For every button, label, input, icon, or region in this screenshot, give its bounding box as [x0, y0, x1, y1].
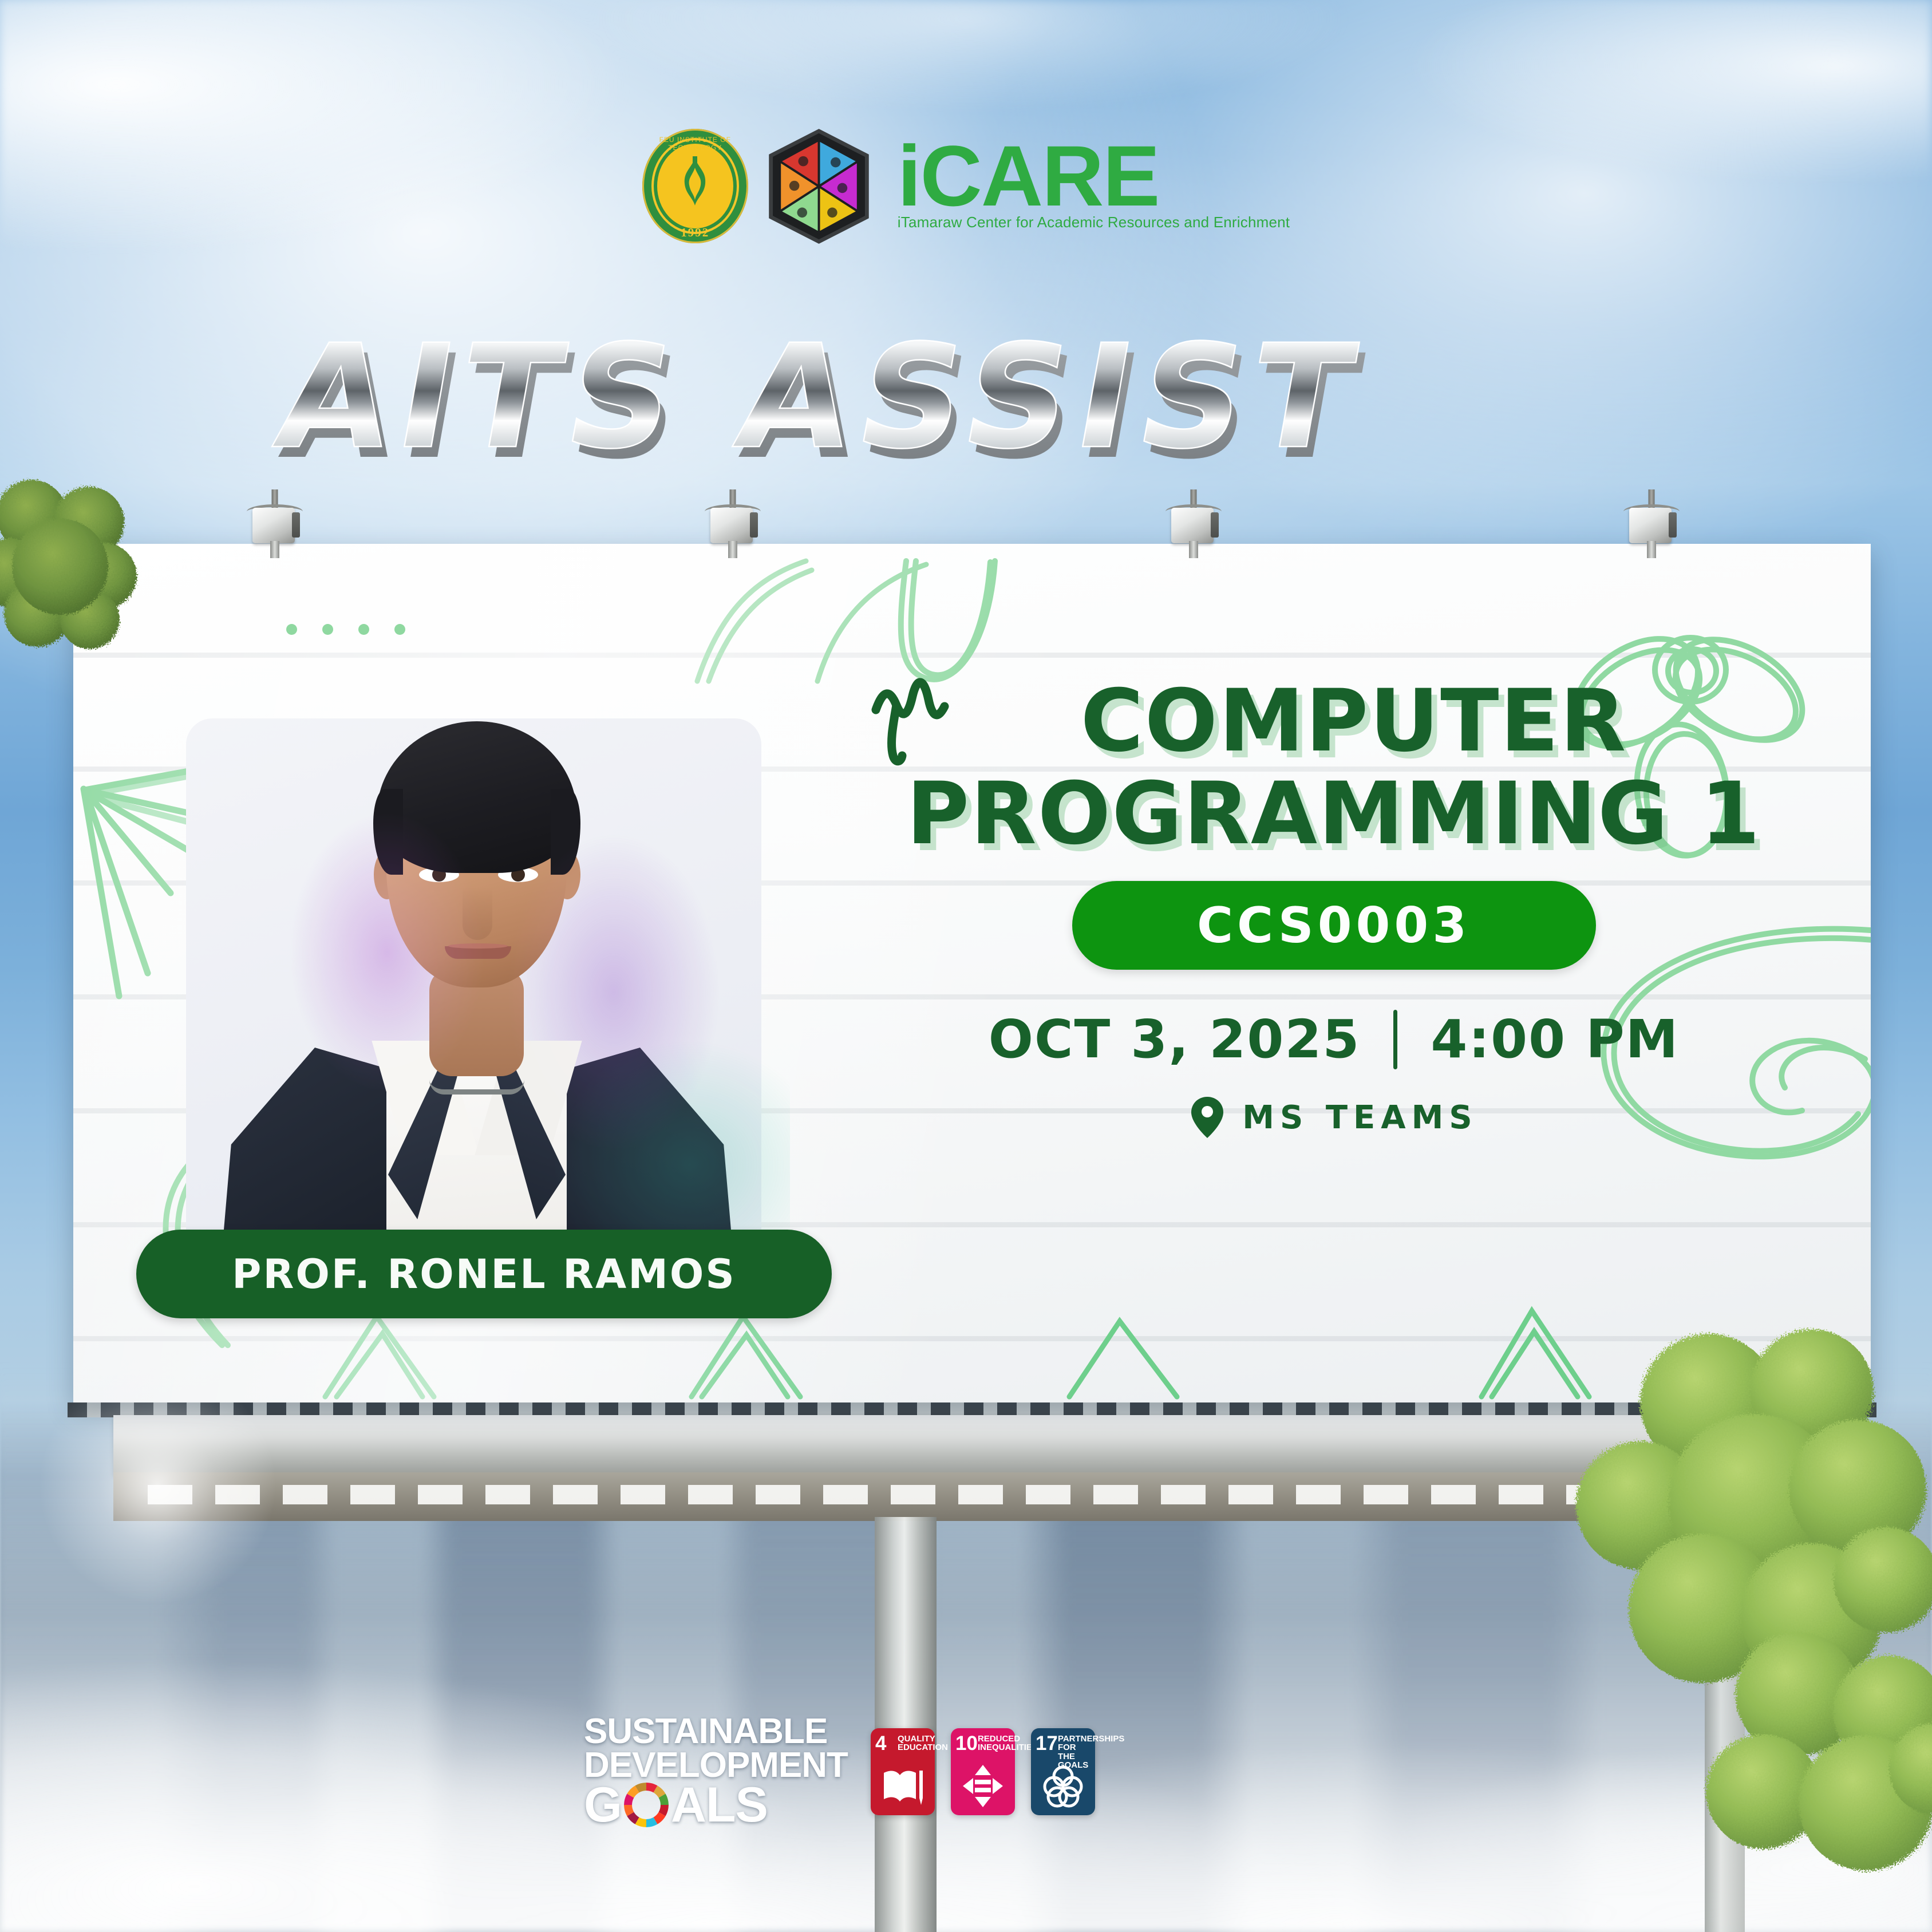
course-code-text: CCS0003: [1197, 897, 1471, 954]
equals-arrows-icon: [962, 1764, 1004, 1808]
sdg-goal-4-number: 4: [875, 1733, 886, 1753]
seal-year: 1992: [642, 226, 748, 240]
course-code-badge: CCS0003: [1072, 881, 1596, 970]
sdg-goal-4-title: QUALITY EDUCATION: [898, 1735, 931, 1752]
course-title-line2: PROGRAMMING 1: [830, 771, 1838, 857]
speaker-name-text: PROF. RONEL RAMOS: [232, 1251, 736, 1298]
sdg-goal-10-tile: 10 REDUCED INEQUALITIES: [951, 1728, 1015, 1815]
floodlight-1: [243, 489, 306, 552]
interlocking-circles-icon: [1042, 1764, 1084, 1808]
floodlight-4: [1620, 489, 1683, 552]
open-book-pencil-icon: [882, 1764, 924, 1808]
sdg-line3-suffix: ALS: [671, 1782, 768, 1828]
schedule-separator: [1393, 1010, 1397, 1069]
course-info-block: COMPUTER PROGRAMMING 1 CCS0003 OCT 3, 20…: [830, 678, 1838, 1140]
event-time: 4:00 PM: [1431, 1009, 1679, 1070]
sdg-line1: SUSTAINABLE: [584, 1715, 848, 1748]
event-date: OCT 3, 2025: [989, 1009, 1361, 1070]
sdg-color-wheel-icon: [624, 1783, 669, 1827]
sdg-goal-17-number: 17: [1036, 1733, 1058, 1753]
header-logo-row: FEU INSTITUTE OF TECHNOLOGY 1992: [0, 123, 1932, 249]
floodlight-2: [701, 489, 764, 552]
course-title-line1: COMPUTER: [870, 678, 1838, 764]
truss-beam: [113, 1472, 1822, 1521]
billboard-floodlights: [0, 489, 1932, 552]
torch-flame-icon: [673, 156, 717, 214]
svg-text:AITS ASSIST: AITS ASSIST: [265, 314, 1374, 481]
venue-row: MS TEAMS: [830, 1095, 1838, 1140]
sdg-line3-prefix: G: [584, 1782, 622, 1828]
icare-tagline: iTamaraw Center for Academic Resources a…: [898, 214, 1290, 231]
aits-assist-headline: AITS ASSIST AITS ASSIST: [0, 303, 1932, 492]
sdg-goal-4-tile: 4 QUALITY EDUCATION: [871, 1728, 935, 1815]
sdg-footer: SUSTAINABLE DEVELOPMENT G: [584, 1677, 1095, 1866]
crown-doodle-icon: [864, 670, 979, 770]
necklace-icon: [429, 1080, 524, 1095]
location-pin-icon: [1190, 1095, 1225, 1140]
dotted-divider: [286, 624, 405, 635]
speaker-portrait: [160, 647, 790, 1311]
sdg-goal-10-title: REDUCED INEQUALITIES: [978, 1735, 1012, 1752]
speaker-figure: [160, 647, 790, 1311]
speaker-name-badge: PROF. RONEL RAMOS: [136, 1230, 832, 1318]
poster-canvas: FEU INSTITUTE OF TECHNOLOGY 1992: [0, 0, 1932, 1932]
aits-hexagon-emblem-icon: [763, 128, 875, 245]
feu-institute-of-technology-seal-icon: FEU INSTITUTE OF TECHNOLOGY 1992: [642, 129, 748, 243]
venue-label: MS TEAMS: [1242, 1099, 1477, 1136]
schedule-row: OCT 3, 2025 4:00 PM: [830, 1009, 1838, 1070]
seal-arc-text: FEU INSTITUTE OF TECHNOLOGY: [642, 136, 748, 152]
floodlight-3: [1162, 489, 1225, 552]
icare-logo: iCARE iTamaraw Center for Academic Resou…: [898, 141, 1290, 231]
sdg-wordmark: SUSTAINABLE DEVELOPMENT G: [584, 1715, 855, 1828]
support-pole-secondary: [1705, 1517, 1745, 1932]
sdg-goal-17-tile: 17 PARTNERSHIPS FOR THE GOALS: [1031, 1728, 1095, 1815]
main-beam: [113, 1415, 1822, 1475]
icare-wordmark: iCARE: [898, 141, 1159, 211]
sdg-line3: G: [584, 1782, 848, 1828]
sdg-goal-10-number: 10: [955, 1733, 978, 1753]
